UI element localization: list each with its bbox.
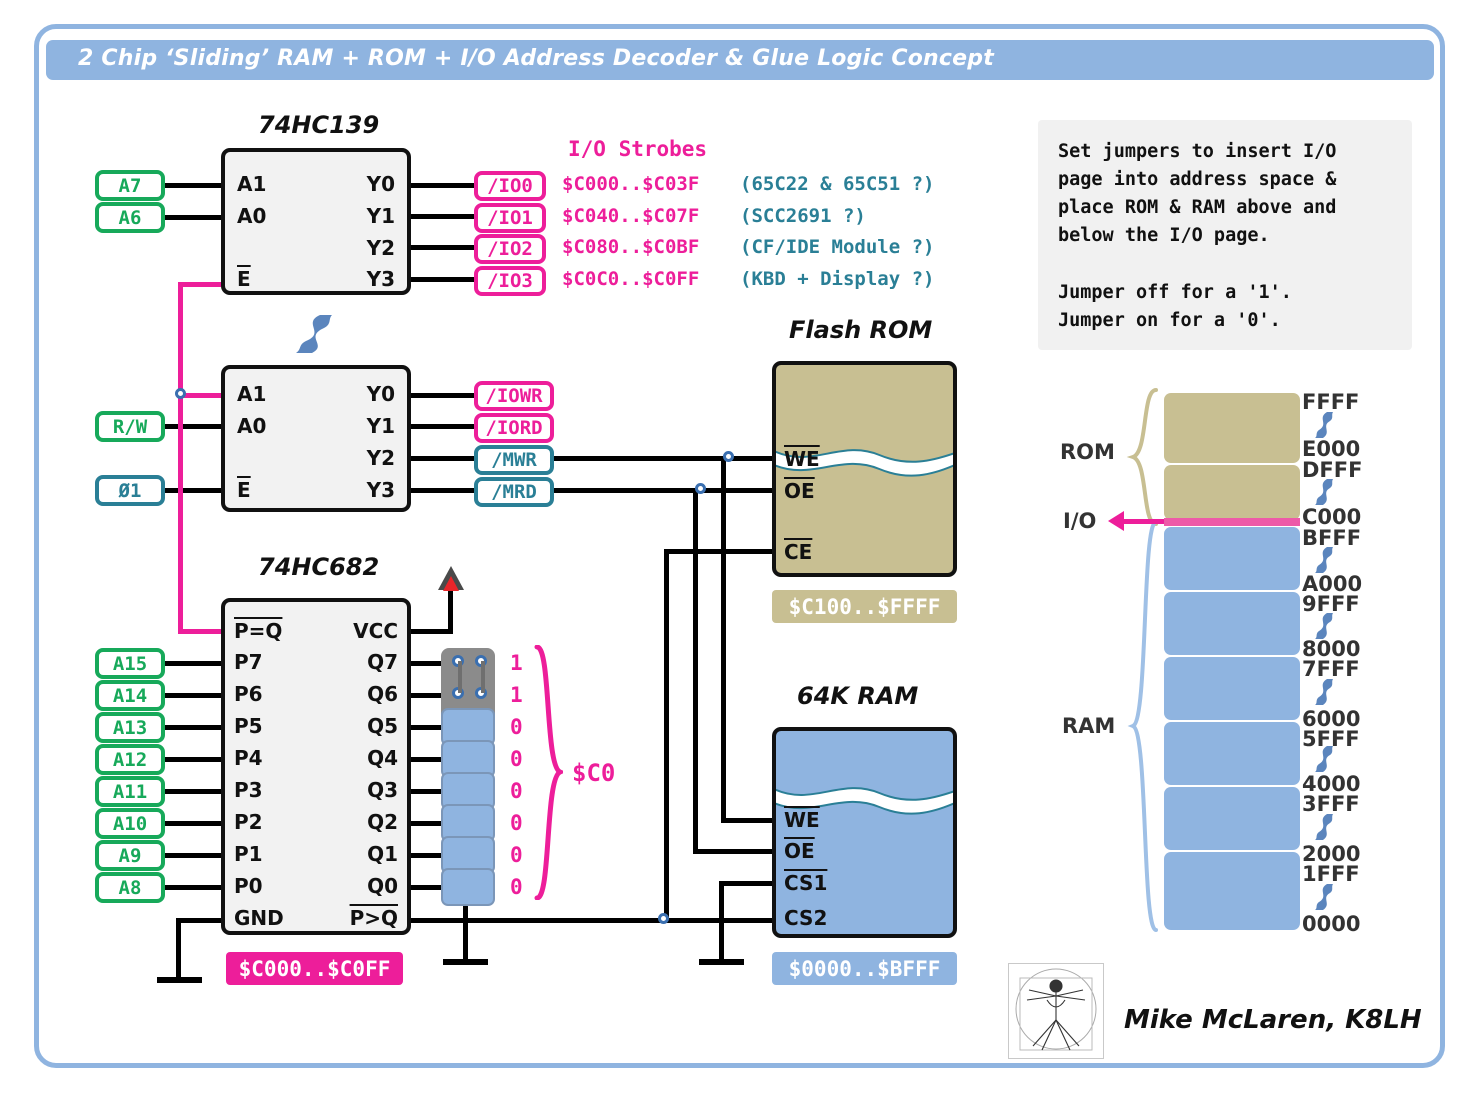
memmap-addr-0000: 0000: [1302, 912, 1360, 936]
wire-mwr-drop: [721, 456, 726, 822]
decoder1-pin-y3: Y3: [325, 267, 395, 291]
memmap-block-rom-lower: [1164, 465, 1300, 520]
jumper-link-left: [458, 661, 462, 693]
signal-tag-iord[interactable]: /IORD: [474, 413, 554, 443]
io1-range: $C040..$C07F: [562, 205, 699, 227]
wire-rom-ce: [664, 549, 776, 554]
junction-pgtq: [658, 913, 669, 924]
signal-tag-iowr[interactable]: /IOWR: [474, 381, 554, 411]
wire-peq-rail: [178, 282, 183, 632]
page-title: 2 Chip ‘Sliding’ RAM + ROM + I/O Address…: [78, 46, 994, 71]
wire-mwr-ram-we: [721, 818, 776, 823]
signal-tag-io2[interactable]: /IO2: [474, 234, 546, 264]
comparator-pin-q0: Q0: [300, 874, 398, 898]
jumper-box-0[interactable]: [441, 868, 495, 906]
decoder2-pin-y1: Y1: [325, 414, 395, 438]
memmap-block-ram-2: [1164, 852, 1300, 930]
ram-range-badge: $0000..$BFFF: [772, 952, 957, 985]
io2-note: (CF/IDE Module ?): [740, 236, 934, 258]
wire-q0: [411, 885, 442, 890]
ram-title: 64K RAM: [797, 682, 918, 710]
wire-vcc: [411, 629, 453, 634]
memmap-squiggle-7-icon: [1313, 814, 1335, 840]
comparator-range-badge: $C000..$C0FF: [226, 952, 403, 985]
jumper-bit-5: 0: [510, 715, 523, 739]
memmap-addr-3fff: 3FFF: [1302, 792, 1360, 816]
wire-ram-cs1: [719, 881, 776, 886]
comparator-pin-q6: Q6: [300, 682, 398, 706]
wire-q2: [411, 821, 442, 826]
decoder1-pin-a0: A0: [237, 204, 266, 228]
wire-a8: [163, 885, 221, 890]
signal-tag-a15[interactable]: A15: [95, 648, 165, 679]
comparator-pin-p3: P3: [234, 778, 263, 802]
io0-range: $C000..$C03F: [562, 173, 699, 195]
memmap-block-ram-5: [1164, 657, 1300, 720]
jumper-bit-2: 0: [510, 811, 523, 835]
memmap-squiggle-8-icon: [1313, 884, 1335, 910]
flash-rom-range-badge: $C100..$FFFF: [772, 590, 957, 623]
wire-peq-to-e1: [178, 282, 221, 287]
wire-mrd-ram-oe: [693, 849, 776, 854]
decoder1-title: 74HC139: [258, 111, 379, 139]
signal-tag-mrd[interactable]: /MRD: [474, 477, 554, 507]
memmap-addr-ffff: FFFF: [1302, 390, 1359, 414]
vcc-arrow-icon: [443, 576, 459, 591]
ram-pin-cs1: CS1: [784, 871, 827, 895]
decoder1-pin-e: E: [237, 267, 251, 291]
jumper-bit-1: 0: [510, 843, 523, 867]
comparator-pin-peq: P=Q: [234, 619, 282, 643]
decoder1-pin-y2: Y2: [325, 236, 395, 260]
junction-mrd: [695, 483, 706, 494]
memmap-io-bar: [1164, 518, 1300, 526]
decoder1-pin-a1: A1: [237, 172, 266, 196]
signal-tag-a9[interactable]: A9: [95, 840, 165, 871]
memmap-rom-brace-icon: [1118, 388, 1160, 526]
signal-tag-io1[interactable]: /IO1: [474, 203, 546, 233]
memmap-squiggle-5-icon: [1313, 679, 1335, 705]
memmap-squiggle-1-icon: [1313, 412, 1335, 438]
jumper-value-label: $C0: [572, 759, 615, 787]
wire-gnd-682-drop: [176, 918, 181, 980]
wire-a11: [163, 789, 221, 794]
memmap-addr-1fff: 1FFF: [1302, 862, 1360, 886]
wire-y2-io2: [411, 245, 474, 250]
wire-a13: [163, 725, 221, 730]
memmap-block-ram-6: [1164, 592, 1300, 655]
io3-note: (KBD + Display ?): [740, 268, 934, 290]
decoder2-pin-y0: Y0: [325, 382, 395, 406]
wire-q7: [411, 661, 442, 666]
jumper-bit-3: 0: [510, 779, 523, 803]
flash-rom-pin-ce: CE: [784, 540, 812, 564]
wire-mrd-bus: [546, 488, 776, 493]
decoder2-pin-y3: Y3: [325, 478, 395, 502]
wire-phi1: [163, 488, 221, 493]
comparator-pin-q5: Q5: [300, 714, 398, 738]
wire-q3: [411, 789, 442, 794]
notes-panel: Set jumpers to insert I/O page into addr…: [1038, 120, 1412, 350]
signal-tag-rw[interactable]: R/W: [95, 411, 165, 442]
jumper-bit-7: 1: [510, 651, 523, 675]
wire-jumper-common: [463, 900, 468, 962]
ram-pin-cs2: CS2: [784, 906, 827, 930]
comparator-title: 74HC682: [258, 553, 379, 581]
comparator-pin-pgtq: P>Q: [300, 906, 398, 930]
memmap-squiggle-4-icon: [1313, 613, 1335, 639]
signal-tag-a7[interactable]: A7: [95, 170, 165, 201]
comparator-pin-p5: P5: [234, 714, 263, 738]
wire-a10: [163, 821, 221, 826]
memmap-block-ram-7: [1164, 527, 1300, 590]
signal-tag-mwr[interactable]: /MWR: [474, 445, 554, 475]
memmap-label-io: I/O: [1063, 509, 1096, 533]
wire-y0-iowr: [411, 393, 474, 398]
junction-mwr: [723, 451, 734, 462]
wire-a15: [163, 661, 221, 666]
memmap-block-ram-3: [1164, 787, 1300, 850]
memmap-squiggle-6-icon: [1313, 746, 1335, 772]
signal-tag-a14[interactable]: A14: [95, 680, 165, 711]
wire-mwr-bus: [546, 456, 776, 461]
decoder2-pin-y2: Y2: [325, 446, 395, 470]
comparator-pin-q1: Q1: [300, 842, 398, 866]
comparator-pin-gnd: GND: [234, 906, 284, 930]
flash-rom-pin-we: WE: [784, 447, 820, 471]
wire-a14: [163, 693, 221, 698]
wire-q5: [411, 725, 442, 730]
signal-tag-phi1[interactable]: Ø1: [95, 475, 165, 506]
flash-rom-pin-oe: OE: [784, 479, 815, 503]
memmap-squiggle-3-icon: [1313, 547, 1335, 573]
signal-tag-a13[interactable]: A13: [95, 712, 165, 743]
wire-ce-riser: [664, 549, 669, 921]
wire-q1: [411, 853, 442, 858]
signal-tag-a8[interactable]: A8: [95, 872, 165, 903]
wire-vcc-riser: [448, 588, 453, 634]
memmap-io-pointer: [1120, 519, 1164, 524]
wire-ram-cs1-drop: [719, 881, 724, 962]
io0-note: (65C22 & 65C51 ?): [740, 173, 934, 195]
comparator-pin-p6: P6: [234, 682, 263, 706]
decoder1-pin-y0: Y0: [325, 172, 395, 196]
wire-y2-mwr: [411, 456, 474, 461]
wire-a12: [163, 757, 221, 762]
author-signature: Mike McLaren, K8LH: [1124, 1005, 1422, 1035]
wire-a6: [163, 215, 221, 220]
decoder2-pin-a1: A1: [237, 382, 266, 406]
comparator-pin-q4: Q4: [300, 746, 398, 770]
vitruvian-man-icon: [1008, 963, 1104, 1059]
io2-range: $C080..$C0BF: [562, 236, 699, 258]
wire-q6: [411, 693, 442, 698]
memmap-addr-7fff: 7FFF: [1302, 657, 1360, 681]
wire-a9: [163, 853, 221, 858]
decoder1-pin-y1: Y1: [325, 204, 395, 228]
comparator-pin-q2: Q2: [300, 810, 398, 834]
memmap-label-ram: RAM: [1062, 714, 1115, 738]
jumper-link-right: [481, 661, 485, 693]
wire-a7: [163, 183, 221, 188]
signal-tag-a11[interactable]: A11: [95, 776, 165, 807]
title-bar: 2 Chip ‘Sliding’ RAM + ROM + I/O Address…: [46, 40, 1434, 80]
wire-y3-mrd: [411, 488, 474, 493]
comparator-pin-vcc: VCC: [300, 619, 398, 643]
signal-tag-a12[interactable]: A12: [95, 744, 165, 775]
comparator-pin-p4: P4: [234, 746, 263, 770]
memmap-io-arrow-icon: [1108, 511, 1124, 531]
comparator-pin-p2: P2: [234, 810, 263, 834]
notes-text: Set jumpers to insert I/O page into addr…: [1038, 120, 1412, 353]
comparator-pin-q7: Q7: [300, 650, 398, 674]
flash-rom-title: Flash ROM: [789, 316, 932, 344]
comparator-pin-q3: Q3: [300, 778, 398, 802]
wire-peq-to-682: [178, 629, 221, 634]
ram-pin-we: WE: [784, 808, 820, 832]
signal-tag-io0[interactable]: /IO0: [474, 171, 546, 201]
wire-y1-io1: [411, 214, 474, 219]
memmap-label-rom: ROM: [1060, 440, 1115, 464]
memmap-ram-brace-icon: [1118, 520, 1160, 932]
wire-y3-io3: [411, 277, 474, 282]
comparator-pin-p7: P7: [234, 650, 263, 674]
io3-range: $C0C0..$C0FF: [562, 268, 699, 290]
wire-q4: [411, 757, 442, 762]
memmap-squiggle-2-icon: [1313, 479, 1335, 505]
comparator-pin-p0: P0: [234, 874, 263, 898]
junction-peq: [175, 388, 186, 399]
bus-break-squiggle-icon: [292, 315, 334, 353]
memmap-block-ram-4: [1164, 722, 1300, 785]
jumper-bit-4: 0: [510, 747, 523, 771]
comparator-pin-p1: P1: [234, 842, 263, 866]
jumper-bit-6: 1: [510, 683, 523, 707]
wire-y1-iord: [411, 424, 474, 429]
wire-mrd-drop: [693, 488, 698, 854]
signal-tag-a6[interactable]: A6: [95, 202, 165, 233]
signal-tag-io3[interactable]: /IO3: [474, 266, 546, 296]
jumper-bit-0: 0: [510, 875, 523, 899]
jumper-brace-icon: [533, 645, 563, 900]
signal-tag-a10[interactable]: A10: [95, 808, 165, 839]
io-strobes-heading: I/O Strobes: [568, 137, 707, 161]
diagram-canvas: 2 Chip ‘Sliding’ RAM + ROM + I/O Address…: [0, 0, 1479, 1097]
wire-gnd-682: [176, 918, 226, 923]
wire-y0-io0: [411, 183, 474, 188]
decoder2-pin-e: E: [237, 478, 251, 502]
decoder2-pin-a0: A0: [237, 414, 266, 438]
wire-rw: [163, 424, 221, 429]
io1-note: (SCC2691 ?): [740, 205, 866, 227]
ram-pin-oe: OE: [784, 839, 815, 863]
memmap-block-rom-upper: [1164, 393, 1300, 463]
